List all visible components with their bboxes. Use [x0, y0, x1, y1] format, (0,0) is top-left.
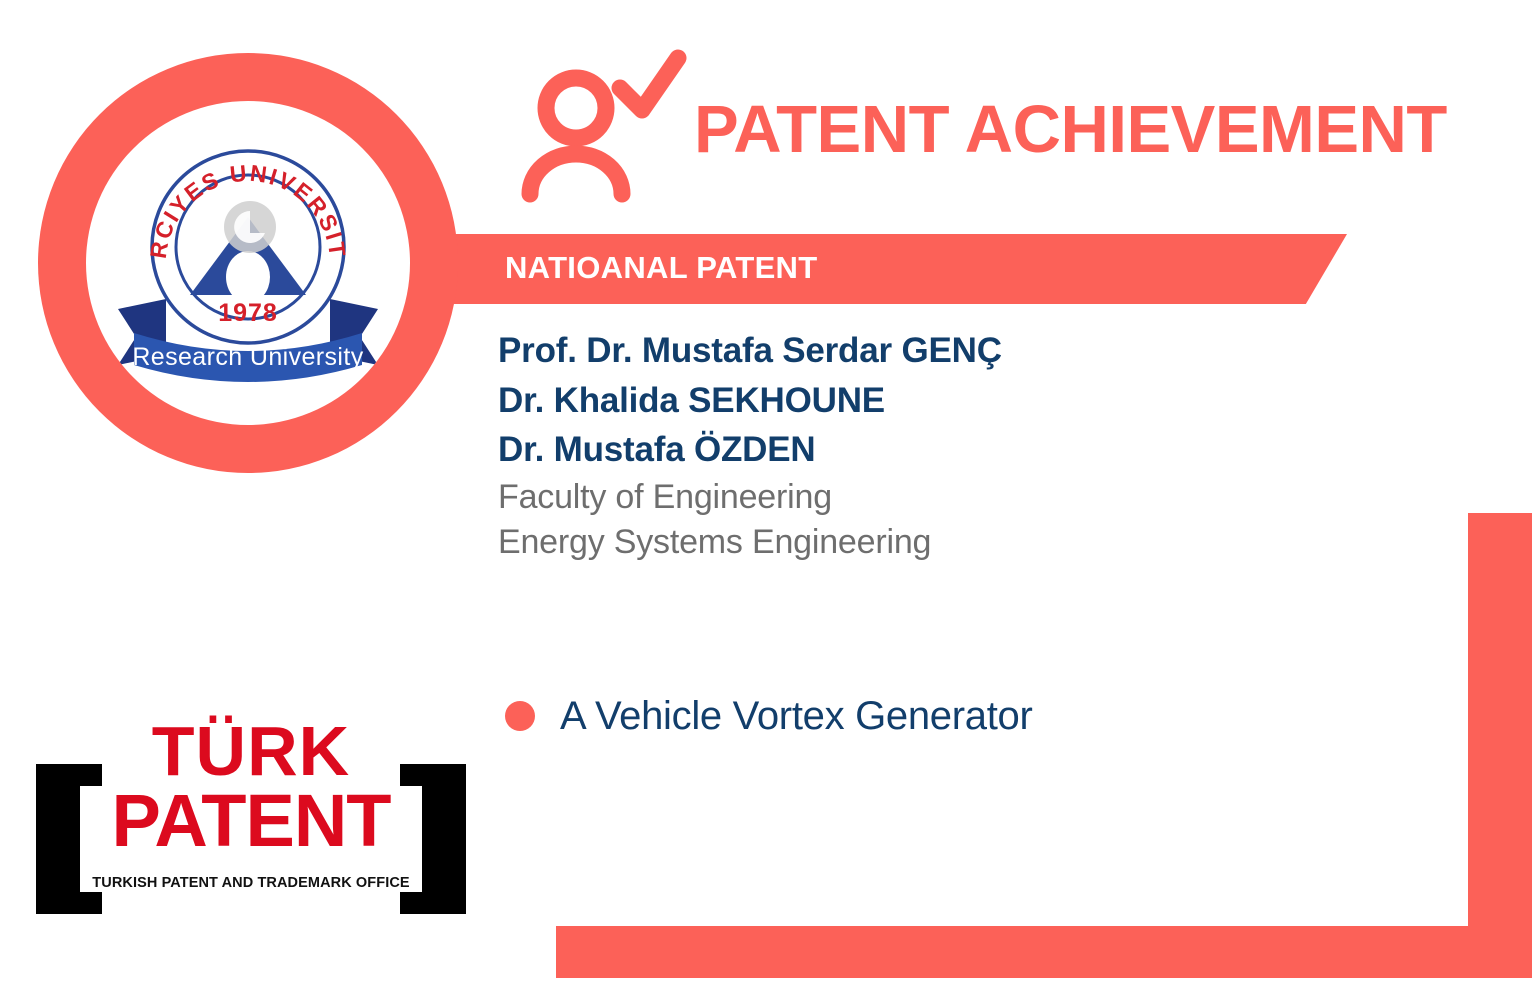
bullet-icon	[505, 701, 535, 731]
patent-achievement-poster: NATIOANAL PATENT	[0, 0, 1532, 1002]
erciyes-university-seal-icon: ERCIYES UNIVERSITY 1978 Research Univers…	[110, 141, 386, 391]
bracket-left-bottom-icon	[36, 892, 102, 914]
patent-list-item: A Vehicle Vortex Generator	[505, 696, 1033, 736]
turk-patent-wordmark-line2: PATENT	[36, 784, 466, 858]
page-title: PATENT ACHIEVEMENT	[694, 96, 1447, 163]
ribbon-label: NATIOANAL PATENT	[505, 252, 817, 283]
svg-text:Research University: Research University	[132, 343, 363, 371]
turk-patent-logo: TÜRK PATENT TURKISH PATENT AND TRADEMARK…	[36, 718, 466, 918]
inventors-block: Prof. Dr. Mustafa Serdar GENÇ Dr. Khalid…	[498, 326, 1398, 566]
affiliation-department: Energy Systems Engineering	[498, 520, 1398, 565]
decorative-frame-bar-horizontal	[556, 926, 1480, 978]
decorative-frame-bar-vertical	[1468, 513, 1532, 978]
svg-text:1978: 1978	[218, 299, 278, 327]
university-seal-ring: ERCIYES UNIVERSITY 1978 Research Univers…	[38, 53, 458, 473]
inventor-name: Dr. Khalida SEKHOUNE	[498, 376, 1398, 426]
university-seal-inner: ERCIYES UNIVERSITY 1978 Research Univers…	[86, 101, 410, 425]
turk-patent-wordmark-line1: TÜRK	[36, 716, 466, 786]
turk-patent-subtitle: TURKISH PATENT AND TRADEMARK OFFICE	[36, 876, 466, 891]
affiliation-faculty: Faculty of Engineering	[498, 475, 1398, 520]
inventor-name: Dr. Mustafa ÖZDEN	[498, 425, 1398, 475]
bracket-right-bottom-icon	[400, 892, 466, 914]
person-check-icon	[518, 48, 688, 203]
patent-title: A Vehicle Vortex Generator	[560, 696, 1033, 736]
inventor-name: Prof. Dr. Mustafa Serdar GENÇ	[498, 326, 1398, 376]
